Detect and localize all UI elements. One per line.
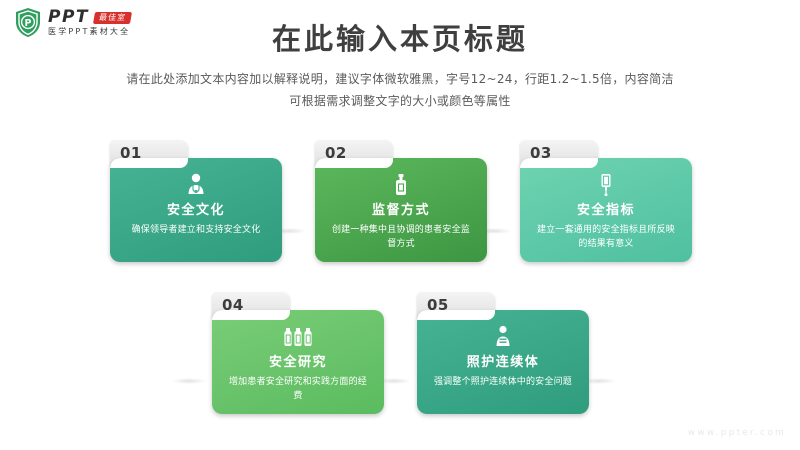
card-01-body[interactable]: 安全文化 确保领导者建立和支持安全文化 xyxy=(110,158,282,262)
card-05[interactable]: 05 照护连续体 强调整个照护连续体中的安全问题 xyxy=(417,292,589,414)
site-watermark: www.ppter.com xyxy=(688,428,786,438)
card-03[interactable]: 03 安全指标 建立一套通用的安全指标且所反映的结果有意义 xyxy=(520,140,692,262)
subtitle-line-1: 请在此处添加文本内容加以解释说明，建议字体微软雅黑，字号12~24，行距1.2~… xyxy=(0,68,800,90)
card-05-title: 照护连续体 xyxy=(467,356,540,369)
page-subtitle: 请在此处添加文本内容加以解释说明，建议字体微软雅黑，字号12~24，行距1.2~… xyxy=(0,68,800,112)
three-vials-icon xyxy=(281,323,315,351)
iv-drip-icon xyxy=(593,171,619,199)
card-04-title: 安全研究 xyxy=(269,356,327,369)
card-01[interactable]: 01 安全文化 确保领导者建立和支持安全文化 xyxy=(110,140,282,262)
doctor-stethoscope-icon xyxy=(183,171,209,199)
page-title: 在此输入本页标题 xyxy=(0,16,800,58)
card-02[interactable]: 02 监督方式 创建一种集中且协调的患者安全监督方式 xyxy=(315,140,487,262)
card-01-title: 安全文化 xyxy=(167,204,225,217)
card-04-body[interactable]: 安全研究 增加患者安全研究和实践方面的经费 xyxy=(212,310,384,414)
card-01-desc: 确保领导者建立和支持安全文化 xyxy=(123,224,269,238)
medicine-bottle-icon xyxy=(388,171,414,199)
card-05-body[interactable]: 照护连续体 强调整个照护连续体中的安全问题 xyxy=(417,310,589,414)
card-02-desc: 创建一种集中且协调的患者安全监督方式 xyxy=(328,224,474,251)
card-02-body[interactable]: 监督方式 创建一种集中且协调的患者安全监督方式 xyxy=(315,158,487,262)
card-04[interactable]: 04 安全研究 增加患者安全研究和实践方面的经费 xyxy=(212,292,384,414)
nurse-icon xyxy=(490,323,516,351)
card-05-desc: 强调整个照护连续体中的安全问题 xyxy=(430,376,576,390)
subtitle-line-2: 可根据需求调整文字的大小或颜色等属性 xyxy=(0,90,800,112)
card-03-body[interactable]: 安全指标 建立一套通用的安全指标且所反映的结果有意义 xyxy=(520,158,692,262)
connector-left-4 xyxy=(172,378,206,384)
card-03-desc: 建立一套通用的安全指标且所反映的结果有意义 xyxy=(533,224,679,251)
card-02-title: 监督方式 xyxy=(372,204,430,217)
card-04-desc: 增加患者安全研究和实践方面的经费 xyxy=(225,376,371,403)
card-03-title: 安全指标 xyxy=(577,204,635,217)
